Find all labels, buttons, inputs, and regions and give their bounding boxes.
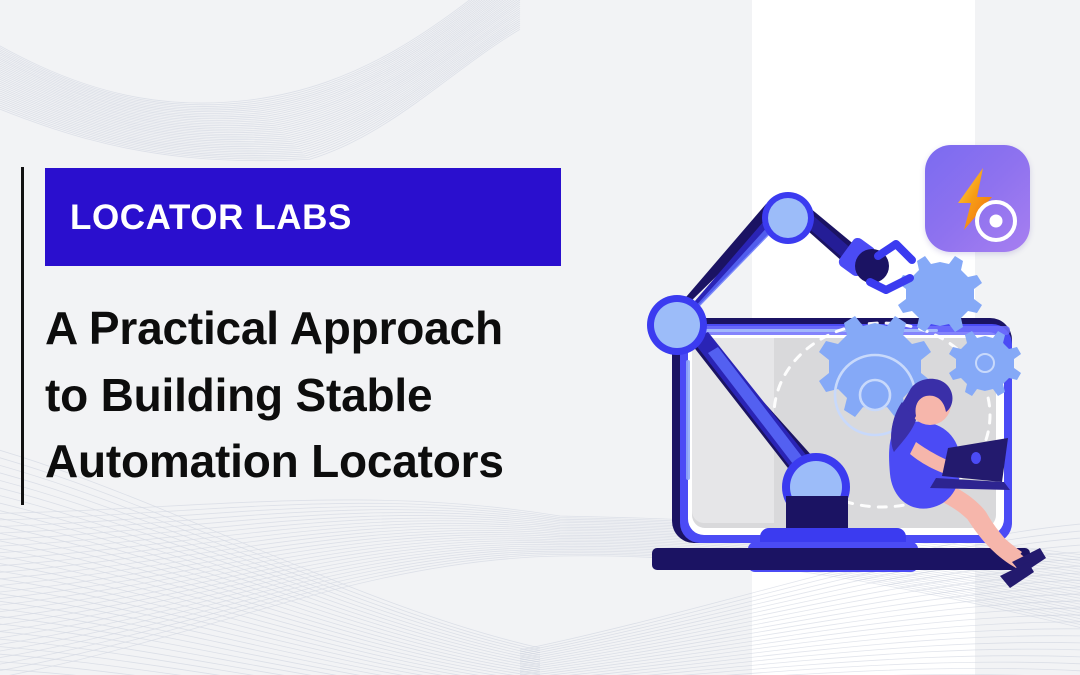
hero-illustration bbox=[630, 190, 1060, 590]
brand-badge: LOCATOR LABS bbox=[45, 168, 561, 266]
vertical-rule bbox=[21, 167, 24, 505]
page-title: A Practical Approach to Building Stable … bbox=[45, 295, 605, 495]
brand-badge-label: LOCATOR LABS bbox=[45, 200, 352, 235]
page-title-line-1: A Practical Approach bbox=[45, 295, 605, 362]
page-title-line-3: Automation Locators bbox=[45, 428, 605, 495]
page-title-line-2: to Building Stable bbox=[45, 362, 605, 429]
poster-canvas: LOCATOR LABS A Practical Approach to Bui… bbox=[0, 0, 1080, 675]
laptop-base bbox=[652, 548, 1030, 570]
